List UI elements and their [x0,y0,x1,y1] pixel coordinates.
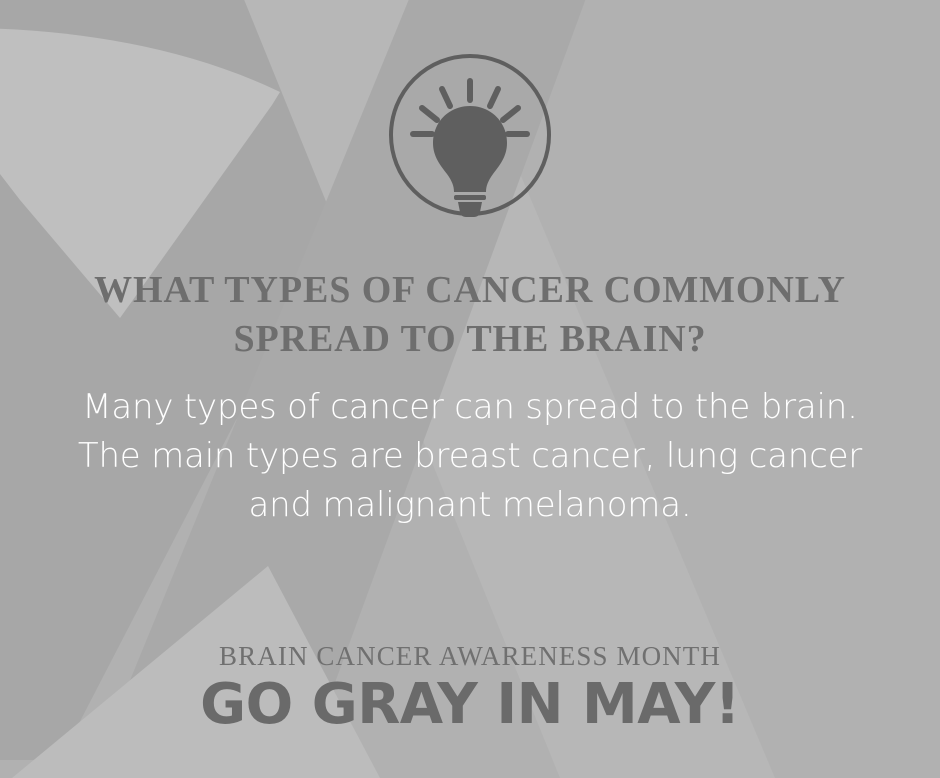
footer-lockup: BRAIN CANCER AWARENESS MONTH GO GRAY IN … [0,641,940,736]
campaign-eyebrow: BRAIN CANCER AWARENESS MONTH [0,641,940,672]
poster-content: WHAT TYPES OF CANCER COMMONLY SPREAD TO … [0,0,940,778]
lightbulb-collar-icon [454,195,486,200]
body-paragraph: Many types of cancer can spread to the b… [0,383,940,530]
campaign-slogan: GO GRAY IN MAY! [0,674,940,736]
page-title: WHAT TYPES OF CANCER COMMONLY SPREAD TO … [0,266,940,364]
poster-canvas: WHAT TYPES OF CANCER COMMONLY SPREAD TO … [0,0,940,778]
lightbulb-icon [385,50,555,220]
lightbulb-base-icon [458,202,482,217]
lightbulb-glass-icon [433,106,507,192]
lightbulb-badge [385,50,555,220]
